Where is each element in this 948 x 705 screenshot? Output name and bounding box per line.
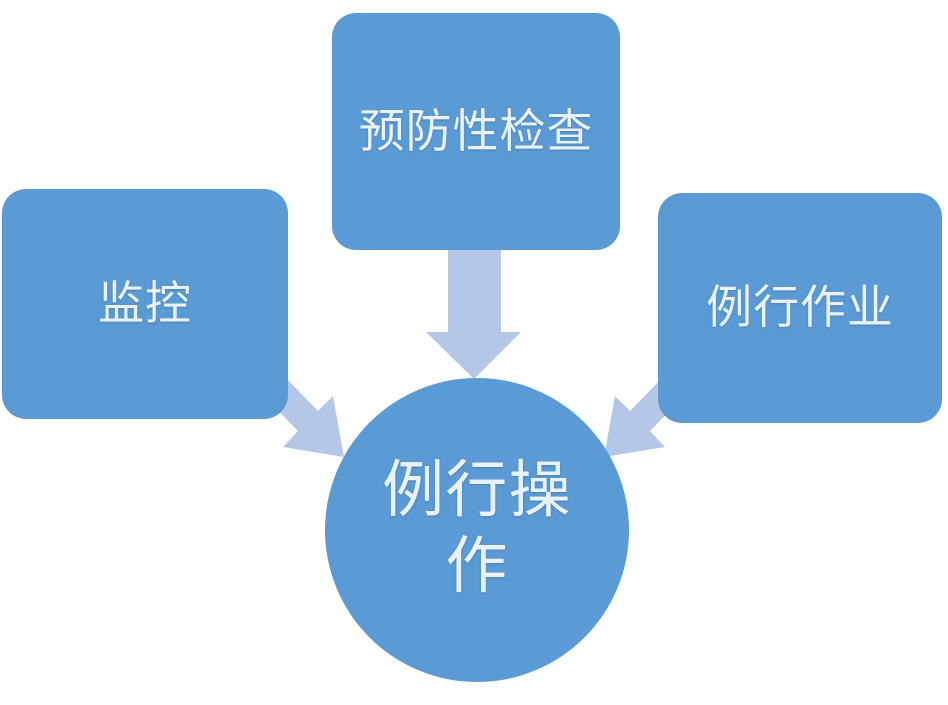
node-preventive-inspection[interactable] bbox=[332, 13, 620, 250]
arrow-preventive-to-center-icon bbox=[426, 248, 521, 379]
diagram-shapes bbox=[0, 0, 948, 705]
node-monitoring[interactable] bbox=[2, 189, 288, 419]
node-routine-operation[interactable] bbox=[325, 378, 629, 682]
diagram-canvas: 监控 预防性检查 例行作业 例行操 作 bbox=[0, 0, 948, 705]
node-routine-task[interactable] bbox=[658, 193, 942, 423]
